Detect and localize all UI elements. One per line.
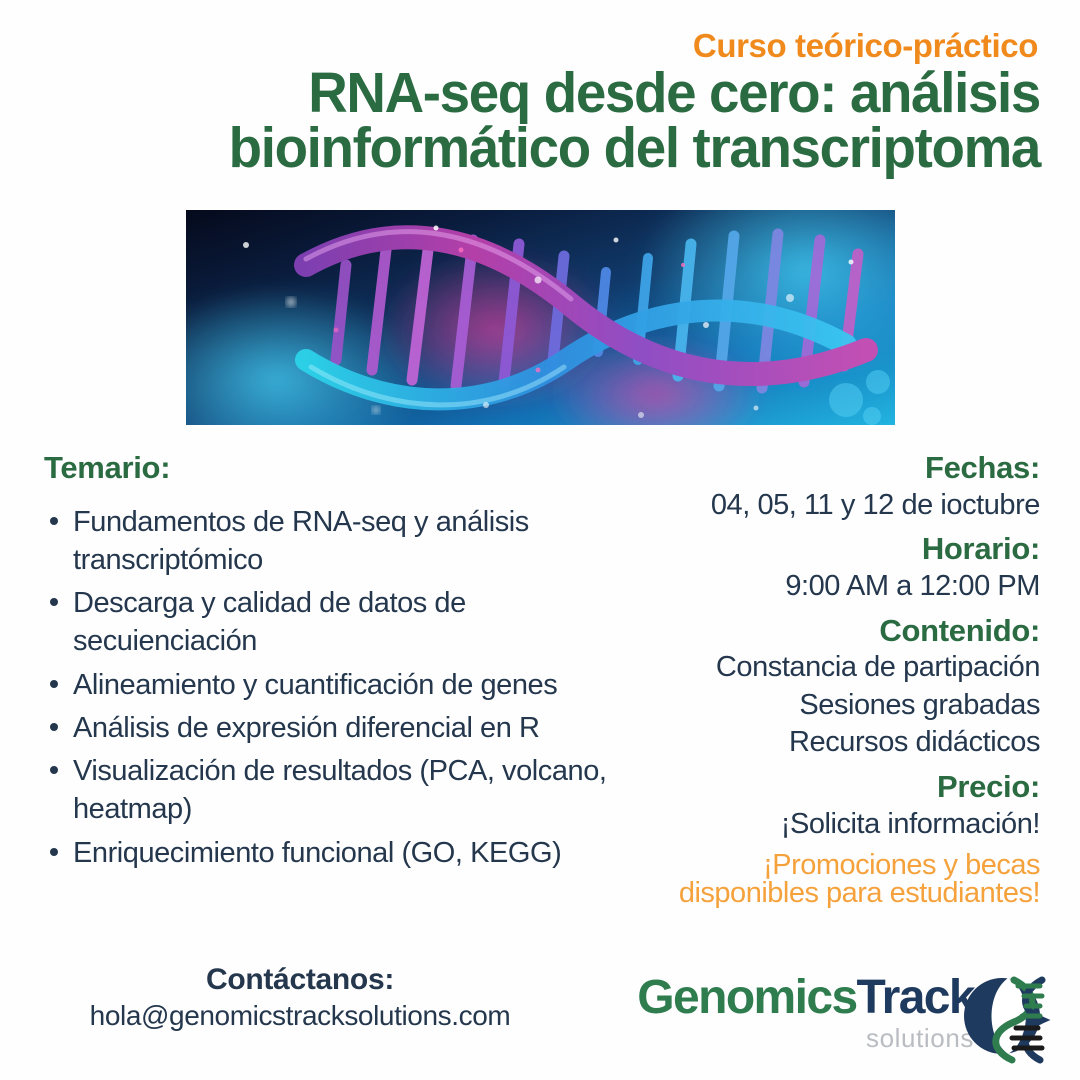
content-item: Sesiones grabadas bbox=[610, 687, 1040, 725]
price-value: ¡Solicita información! bbox=[610, 806, 1040, 844]
dna-helix-illustration bbox=[186, 210, 895, 425]
syllabus-heading: Temario: bbox=[44, 450, 609, 487]
promo-line-1: ¡Promociones y becas bbox=[610, 852, 1040, 879]
syllabus-list: Fundamentos de RNA-seq y análisis transc… bbox=[44, 503, 609, 872]
dates-value: 04, 05, 11 y 12 de ioctubre bbox=[610, 487, 1040, 525]
course-kicker: Curso teórico-práctico bbox=[693, 27, 1038, 65]
dates-heading: Fechas: bbox=[610, 450, 1040, 487]
list-item: Análisis de expresión diferencial en R bbox=[44, 709, 609, 747]
page-title: RNA-seq desde cero: análisis bioinformát… bbox=[70, 66, 1040, 177]
list-item: Enriquecimiento funcional (GO, KEGG) bbox=[44, 834, 609, 872]
price-heading: Precio: bbox=[610, 769, 1040, 806]
title-line-2: bioinformático del transcriptoma bbox=[70, 121, 1040, 176]
list-item: Visualización de resultados (PCA, volcan… bbox=[44, 752, 609, 829]
contact-heading: Contáctanos: bbox=[0, 963, 600, 997]
logo-subtitle: solutions bbox=[634, 1025, 974, 1051]
schedule-value: 9:00 AM a 12:00 PM bbox=[610, 568, 1040, 606]
list-item: Fundamentos de RNA-seq y análisis transc… bbox=[44, 503, 609, 580]
dna-helix-circle-icon bbox=[956, 966, 1056, 1066]
details-column: Fechas: 04, 05, 11 y 12 de ioctubre Hora… bbox=[610, 450, 1040, 907]
schedule-heading: Horario: bbox=[610, 531, 1040, 568]
hero-dna-image bbox=[186, 210, 895, 425]
promo-line-2: disponibles para estudiantes! bbox=[610, 880, 1040, 907]
content-item: Recursos didácticos bbox=[610, 724, 1040, 762]
syllabus-column: Temario: Fundamentos de RNA-seq y anális… bbox=[44, 450, 609, 877]
flyer-root: Curso teórico-práctico RNA-seq desde cer… bbox=[0, 0, 1080, 1080]
list-item: Descarga y calidad de datos de secuienci… bbox=[44, 584, 609, 661]
contact-block: Contáctanos: hola@genomicstracksolutions… bbox=[0, 963, 600, 1032]
title-line-1: RNA-seq desde cero: análisis bbox=[70, 66, 1040, 121]
logo-wordmark: GenomicsTrack bbox=[634, 974, 974, 1022]
content-item: Constancia de partipación bbox=[610, 649, 1040, 687]
list-item: Alineamiento y cuantificación de genes bbox=[44, 666, 609, 704]
contact-email[interactable]: hola@genomicstracksolutions.com bbox=[0, 1000, 600, 1032]
logo-mark-svg bbox=[956, 966, 1056, 1066]
brand-logo: GenomicsTrack solutions bbox=[634, 966, 1064, 1066]
promotions-note: ¡Promociones y becas disponibles para es… bbox=[610, 852, 1040, 907]
logo-word-genomics: Genomics bbox=[637, 971, 856, 1024]
content-heading: Contenido: bbox=[610, 613, 1040, 650]
